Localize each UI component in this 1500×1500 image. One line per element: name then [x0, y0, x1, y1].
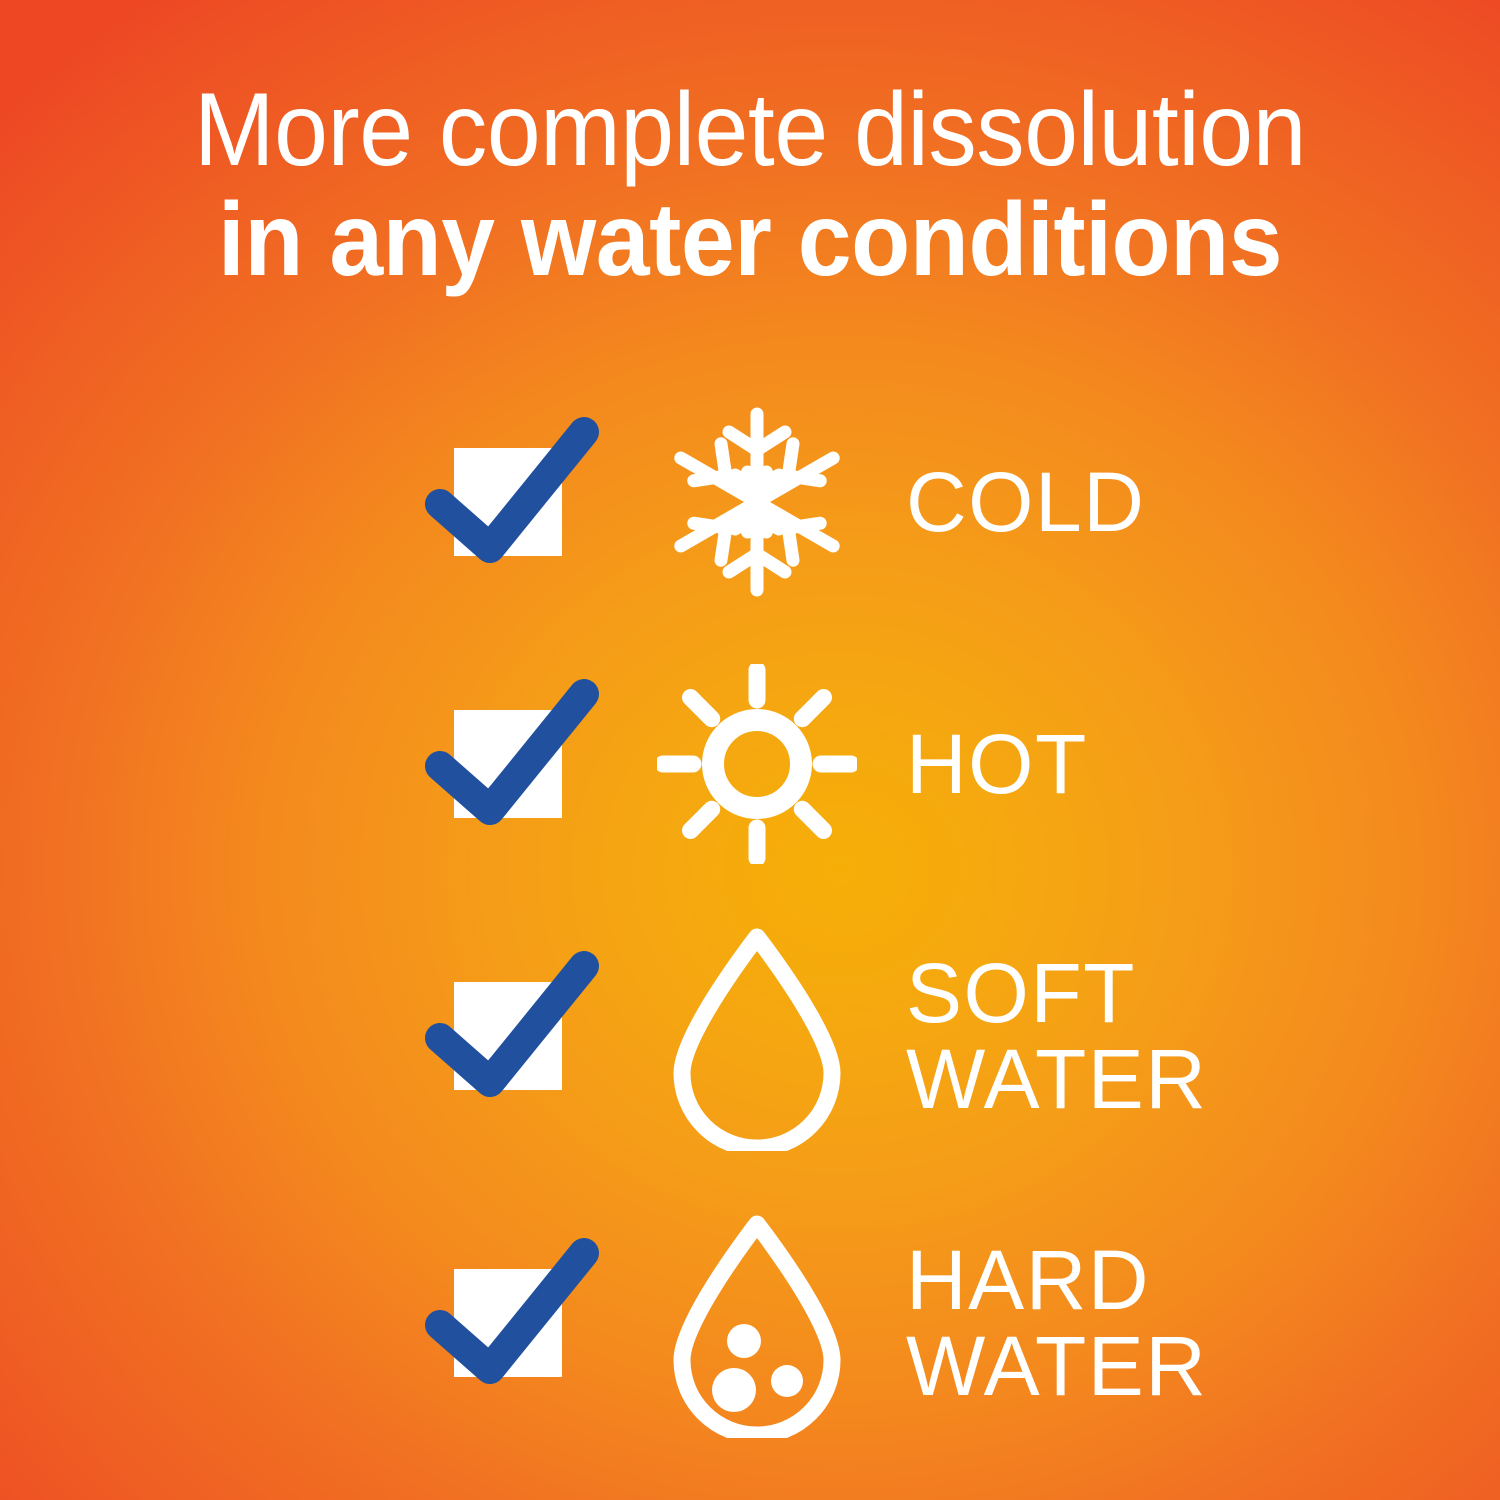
feature-row-hard-water: HARD WATER [432, 1188, 1292, 1458]
checkbox-checked-soft-water[interactable] [432, 936, 632, 1136]
mineral-dot [771, 1365, 803, 1397]
label-line: HARD [906, 1239, 1292, 1321]
feature-label-hard-water: HARD WATER [882, 1239, 1292, 1408]
checkbox-checked-cold[interactable] [432, 402, 632, 602]
water-drop-icon-cell [632, 921, 882, 1151]
checkbox-checked-hot[interactable] [432, 664, 632, 864]
feature-label-cold: COLD [882, 461, 1292, 543]
water-drop-icon [662, 921, 852, 1151]
sun-icon-cell [632, 649, 882, 879]
snowflake-icon-cell [632, 387, 882, 617]
water-drop-minerals-icon-cell [632, 1208, 882, 1438]
feature-row-soft-water: SOFT WATER [432, 906, 1292, 1166]
headline-line-2: in any water conditions [53, 188, 1448, 292]
label-line: HOT [906, 723, 1292, 805]
feature-label-soft-water: SOFT WATER [882, 952, 1292, 1121]
poster-canvas: More complete dissolution in any water c… [0, 0, 1500, 1500]
feature-row-hot: HOT [432, 644, 1292, 884]
headline-line-1: More complete dissolution [53, 78, 1448, 188]
checkbox-checked-hard-water[interactable] [432, 1223, 632, 1423]
label-line: COLD [906, 461, 1292, 543]
water-drop-minerals-icon [662, 1208, 852, 1438]
label-line: WATER [906, 1325, 1292, 1407]
label-line: WATER [906, 1038, 1292, 1120]
sun-icon [657, 664, 857, 864]
feature-label-hot: HOT [882, 723, 1292, 805]
headline: More complete dissolution in any water c… [0, 78, 1500, 292]
mineral-dot [712, 1368, 756, 1412]
mineral-dot [727, 1324, 761, 1358]
snowflake-icon [657, 402, 857, 602]
feature-list: COLD [432, 382, 1292, 1462]
feature-row-cold: COLD [432, 382, 1292, 622]
label-line: SOFT [906, 952, 1292, 1034]
